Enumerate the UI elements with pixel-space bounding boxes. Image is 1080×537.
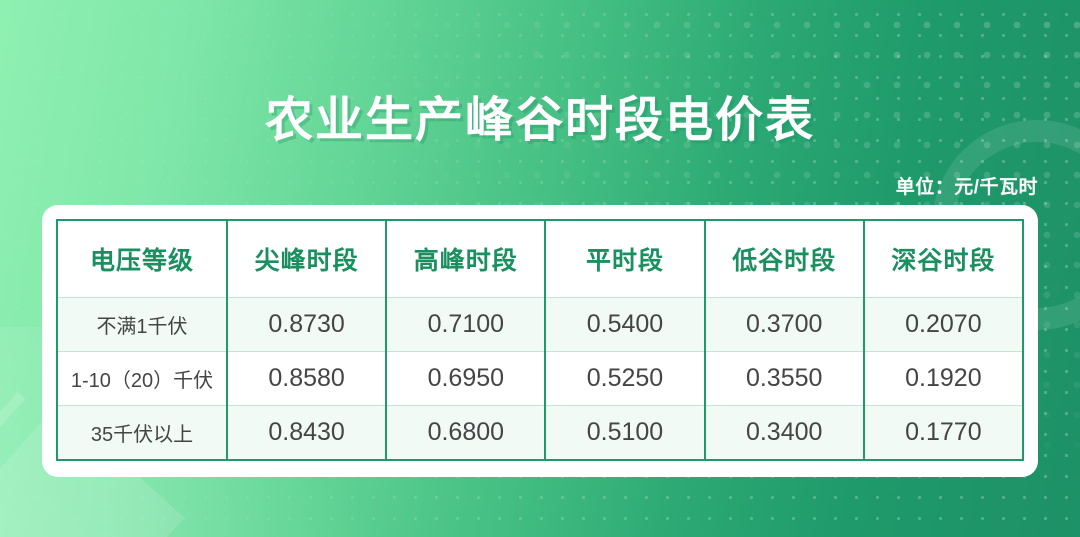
cell-valley: 0.3700 <box>705 298 864 352</box>
cell-sharp-peak: 0.8580 <box>227 352 386 406</box>
cell-deep-valley: 0.1770 <box>864 406 1023 461</box>
cell-valley: 0.3400 <box>705 406 864 461</box>
cell-voltage-level: 1-10（20）千伏 <box>57 352 227 406</box>
cell-sharp-peak: 0.8730 <box>227 298 386 352</box>
column-header-deep-valley: 深谷时段 <box>864 220 1023 298</box>
column-header-peak: 高峰时段 <box>386 220 545 298</box>
cell-deep-valley: 0.2070 <box>864 298 1023 352</box>
table-row: 1-10（20）千伏 0.8580 0.6950 0.5250 0.3550 0… <box>57 352 1023 406</box>
cell-flat: 0.5250 <box>545 352 704 406</box>
column-header-valley: 低谷时段 <box>705 220 864 298</box>
table-body: 不满1千伏 0.8730 0.7100 0.5400 0.3700 0.2070… <box>57 298 1023 461</box>
cell-peak: 0.6950 <box>386 352 545 406</box>
table-row: 不满1千伏 0.8730 0.7100 0.5400 0.3700 0.2070 <box>57 298 1023 352</box>
column-header-sharp-peak: 尖峰时段 <box>227 220 386 298</box>
cell-voltage-level: 不满1千伏 <box>57 298 227 352</box>
poster-root: 农业生产峰谷时段电价表 单位：元/千瓦时 电压等级 尖峰时段 高峰时段 平时段 … <box>0 0 1080 537</box>
cell-sharp-peak: 0.8430 <box>227 406 386 461</box>
column-header-voltage-level: 电压等级 <box>57 220 227 298</box>
cell-valley: 0.3550 <box>705 352 864 406</box>
cell-deep-valley: 0.1920 <box>864 352 1023 406</box>
cell-peak: 0.6800 <box>386 406 545 461</box>
cell-voltage-level: 35千伏以上 <box>57 406 227 461</box>
cell-flat: 0.5400 <box>545 298 704 352</box>
page-title: 农业生产峰谷时段电价表 <box>0 80 1080 150</box>
column-header-flat: 平时段 <box>545 220 704 298</box>
electricity-price-table: 电压等级 尖峰时段 高峰时段 平时段 低谷时段 深谷时段 不满1千伏 0.873… <box>56 219 1024 461</box>
table-header-row: 电压等级 尖峰时段 高峰时段 平时段 低谷时段 深谷时段 <box>57 220 1023 298</box>
cell-flat: 0.5100 <box>545 406 704 461</box>
unit-note: 单位：元/千瓦时 <box>896 172 1038 199</box>
table-card: 电压等级 尖峰时段 高峰时段 平时段 低谷时段 深谷时段 不满1千伏 0.873… <box>42 205 1038 477</box>
table-head: 电压等级 尖峰时段 高峰时段 平时段 低谷时段 深谷时段 <box>57 220 1023 298</box>
cell-peak: 0.7100 <box>386 298 545 352</box>
table-row: 35千伏以上 0.8430 0.6800 0.5100 0.3400 0.177… <box>57 406 1023 461</box>
